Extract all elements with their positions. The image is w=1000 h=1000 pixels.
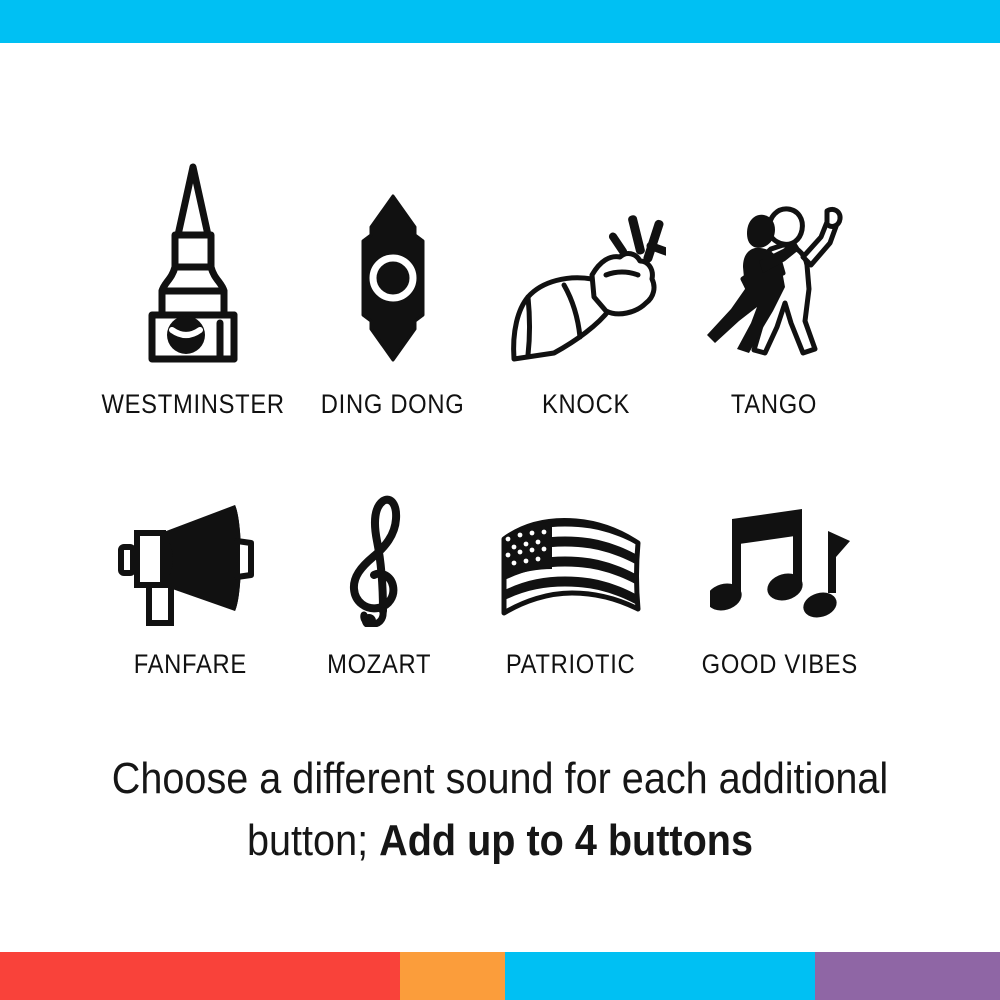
megaphone-icon	[95, 492, 285, 627]
sound-icon-grid: WESTMINSTER DING DONG	[0, 150, 1000, 680]
sound-row-1: WESTMINSTER DING DONG	[0, 150, 1000, 420]
sound-label: TANGO	[731, 389, 817, 420]
knocking-fist-icon	[493, 163, 679, 363]
instruction-caption: Choose a different sound for each additi…	[50, 748, 950, 872]
sound-option-knock[interactable]: KNOCK	[493, 150, 679, 420]
sound-option-fanfare[interactable]: FANFARE	[95, 448, 285, 680]
treble-clef-icon	[285, 492, 473, 627]
dancing-couple-icon	[679, 163, 869, 363]
sound-label: MOZART	[327, 649, 431, 680]
sound-option-patriotic[interactable]: PATRIOTIC	[473, 448, 668, 680]
bottom-segment-red	[0, 952, 400, 1000]
doorbell-button-icon	[293, 163, 493, 363]
sound-option-tango[interactable]: TANGO	[679, 150, 869, 420]
bottom-accent-bar	[0, 952, 1000, 1000]
sound-label: WESTMINSTER	[101, 389, 284, 420]
american-flag-icon	[473, 492, 668, 627]
music-notes-icon	[668, 492, 892, 627]
sound-option-mozart[interactable]: MOZART	[285, 448, 473, 680]
sound-row-2: FANFARE MOZART	[0, 448, 1000, 680]
sound-option-ding-dong[interactable]: DING DONG	[293, 150, 493, 420]
sound-label: PATRIOTIC	[506, 649, 636, 680]
bottom-segment-cyan	[505, 952, 815, 1000]
clock-tower-icon	[93, 163, 293, 363]
sound-option-westminster[interactable]: WESTMINSTER	[93, 150, 293, 420]
sound-options-card: WESTMINSTER DING DONG	[0, 0, 1000, 1000]
sound-option-good-vibes[interactable]: GOOD VIBES	[668, 448, 892, 680]
top-accent-band	[0, 0, 1000, 43]
bottom-segment-purple	[815, 952, 1000, 1000]
bottom-segment-orange	[400, 952, 505, 1000]
caption-bold-text: Add up to 4 buttons	[379, 816, 753, 865]
sound-label: FANFARE	[133, 649, 246, 680]
sound-label: GOOD VIBES	[702, 649, 858, 680]
sound-label: KNOCK	[542, 389, 630, 420]
sound-label: DING DONG	[321, 389, 465, 420]
